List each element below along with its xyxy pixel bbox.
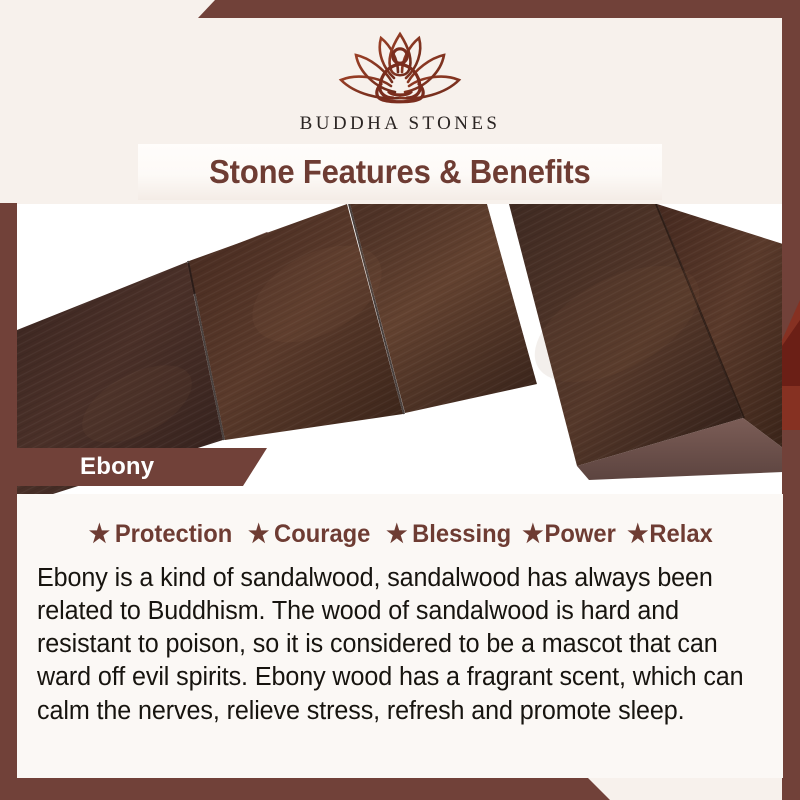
title-band: Stone Features & Benefits xyxy=(138,144,662,200)
feature-label: Relax xyxy=(649,520,712,549)
feature-item-protection: ★ Protection xyxy=(89,520,232,549)
lotus-meditation-icon xyxy=(325,22,475,108)
star-icon: ★ xyxy=(627,522,648,547)
feature-item-blessing: ★ Blessing xyxy=(377,520,511,549)
feature-label: Protection xyxy=(115,520,232,549)
feature-item-courage: ★ Courage xyxy=(239,520,370,549)
star-icon: ★ xyxy=(248,522,269,547)
feature-label: Courage xyxy=(274,520,370,549)
frame-border-left xyxy=(0,203,17,800)
star-icon: ★ xyxy=(523,522,544,547)
feature-label: Blessing xyxy=(412,520,511,549)
content-panel: ★ Protection ★ Courage ★ Blessing ★ Powe… xyxy=(17,494,783,778)
feature-list: ★ Protection ★ Courage ★ Blessing ★ Powe… xyxy=(37,520,763,549)
poster-canvas: BUDDHA STONES Stone Features & Benefits … xyxy=(0,0,800,800)
feature-item-power: ★ Power xyxy=(517,520,616,549)
product-name-banner: Ebony xyxy=(17,448,267,486)
description-text: Ebony is a kind of sandalwood, sandalwoo… xyxy=(37,562,752,728)
brand-logo: BUDDHA STONES xyxy=(0,22,800,135)
page-title: Stone Features & Benefits xyxy=(209,153,590,191)
star-icon: ★ xyxy=(386,522,407,547)
feature-item-relax: ★ Relax xyxy=(621,520,712,549)
product-name: Ebony xyxy=(80,453,154,481)
brand-name: BUDDHA STONES xyxy=(300,113,501,135)
star-icon: ★ xyxy=(89,522,110,547)
feature-label: Power xyxy=(545,520,616,549)
